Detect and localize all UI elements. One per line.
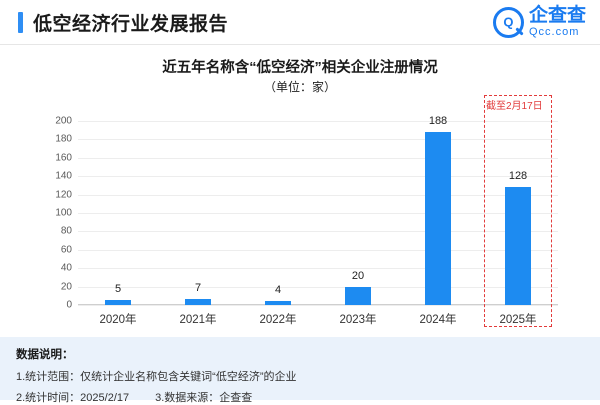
y-tick-label: 100 xyxy=(12,208,72,219)
footer-line-2: 2.统计时间：2025/2/17 3.数据来源：企查查 xyxy=(16,389,584,405)
header-accent-bar xyxy=(18,12,23,33)
page-title: 低空经济行业发展报告 xyxy=(33,9,228,36)
bar[interactable] xyxy=(345,287,371,305)
brand-name: 企查查 xyxy=(529,6,586,26)
footer-line-1-text: 1.统计范围：仅统计企业名称包含关键词“低空经济”的企业 xyxy=(16,368,297,384)
brand-texts: 企查查 Qcc.com xyxy=(529,6,586,38)
bar[interactable] xyxy=(185,299,211,305)
y-tick-label: 40 xyxy=(12,263,72,274)
bar-slot: 188 xyxy=(398,121,478,305)
footer-stat-time: 2.统计时间：2025/2/17 xyxy=(16,389,129,405)
y-tick-label: 80 xyxy=(12,226,72,237)
chart-container: 近五年名称含“低空经济”相关企业注册情况 （单位：家） 020406080100… xyxy=(0,45,600,337)
footer-line-1: 1.统计范围：仅统计企业名称包含关键词“低空经济”的企业 xyxy=(16,368,584,384)
x-tick-label: 2020年 xyxy=(78,311,158,327)
y-tick-label: 200 xyxy=(12,116,72,127)
x-tick-label: 2024年 xyxy=(398,311,478,327)
brand-logo: Q 企查查 Qcc.com xyxy=(493,6,586,38)
y-tick-label: 0 xyxy=(12,300,72,311)
bar-slot: 5 xyxy=(78,121,158,305)
brand-domain: Qcc.com xyxy=(529,26,586,38)
bar-slot: 20 xyxy=(318,121,398,305)
bar-value-label: 7 xyxy=(195,282,201,294)
app-header: 低空经济行业发展报告 Q 企查查 Qcc.com xyxy=(0,0,600,44)
footer-notes: 数据说明： 1.统计范围：仅统计企业名称包含关键词“低空经济”的企业 2.统计时… xyxy=(0,337,600,400)
brand-mark-letter: Q xyxy=(503,15,513,30)
y-tick-label: 160 xyxy=(12,152,72,163)
bar-value-label: 5 xyxy=(115,283,121,295)
y-tick-label: 140 xyxy=(12,171,72,182)
bar-slot: 4 xyxy=(238,121,318,305)
highlight-box xyxy=(484,95,552,327)
x-tick-label: 2023年 xyxy=(318,311,398,327)
x-tick-label: 2021年 xyxy=(158,311,238,327)
plot-area: 020406080100120140160180200 57420188128 … xyxy=(78,121,558,305)
bar-value-label: 4 xyxy=(275,284,281,296)
bar[interactable] xyxy=(265,301,291,305)
chart-title: 近五年名称含“低空经济”相关企业注册情况 xyxy=(0,56,600,77)
bar[interactable] xyxy=(425,132,451,305)
y-tick-label: 180 xyxy=(12,134,72,145)
x-tick-label: 2022年 xyxy=(238,311,318,327)
bar[interactable] xyxy=(105,300,131,305)
y-tick-label: 120 xyxy=(12,189,72,200)
bar-value-label: 20 xyxy=(352,270,364,282)
y-tick-label: 20 xyxy=(12,281,72,292)
bar-value-label: 188 xyxy=(429,115,447,127)
highlight-annotation-label: 截至2月17日 xyxy=(486,97,543,112)
footer-title: 数据说明： xyxy=(16,346,584,362)
qcc-circle-icon: Q xyxy=(493,7,524,38)
bar-slot: 7 xyxy=(158,121,238,305)
chart-subtitle: （单位：家） xyxy=(0,78,600,95)
y-tick-label: 60 xyxy=(12,244,72,255)
footer-data-source: 3.数据来源：企查查 xyxy=(155,389,252,405)
